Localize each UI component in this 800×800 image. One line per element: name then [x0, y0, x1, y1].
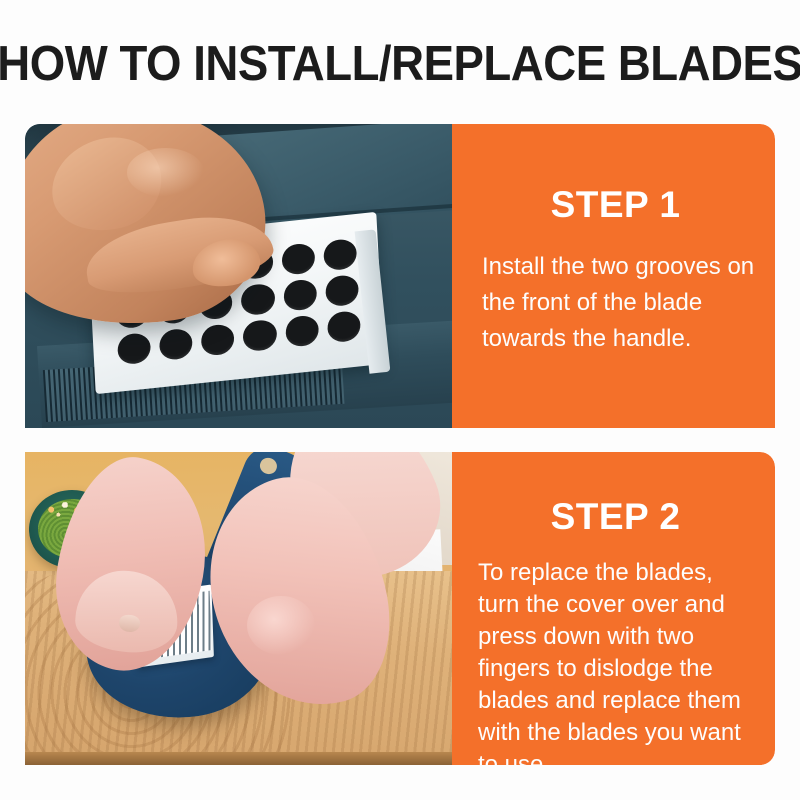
blade-hole — [241, 283, 276, 316]
step-2-photo — [25, 452, 452, 765]
step-1-body: Install the two grooves on the front of … — [474, 249, 757, 357]
blade-hole — [243, 318, 278, 351]
step-2-panel: STEP 2 To replace the blades, turn the c… — [452, 452, 775, 765]
step-1-panel: STEP 1 Install the two grooves on the fr… — [452, 124, 775, 428]
step-card-1: STEP 1 Install the two grooves on the fr… — [25, 124, 775, 428]
cutting-board-edge — [25, 752, 452, 765]
blade-hole — [323, 238, 358, 271]
blade-hole — [283, 278, 318, 311]
blade-hole — [159, 327, 194, 360]
page-title: HOW TO INSTALL/REPLACE BLADES — [0, 34, 800, 94]
blade-hole — [281, 242, 316, 275]
blade-hole — [285, 314, 320, 347]
knuckle-highlight — [127, 148, 204, 197]
instruction-infographic: HOW TO INSTALL/REPLACE BLADES — [0, 0, 800, 800]
step-2-heading: STEP 2 — [474, 498, 757, 535]
step-2-body: To replace the blades, turn the cover ov… — [474, 557, 757, 765]
step-1-photo — [25, 124, 452, 428]
step-card-2: STEP 2 To replace the blades, turn the c… — [25, 452, 775, 765]
blade-hole — [201, 323, 236, 356]
blade-hole — [327, 310, 362, 343]
step-1-heading: STEP 1 — [474, 186, 757, 223]
blade-hole — [325, 274, 360, 307]
page-title-text: HOW TO INSTALL/REPLACE BLADES — [0, 36, 800, 92]
blade-hole — [117, 332, 152, 365]
